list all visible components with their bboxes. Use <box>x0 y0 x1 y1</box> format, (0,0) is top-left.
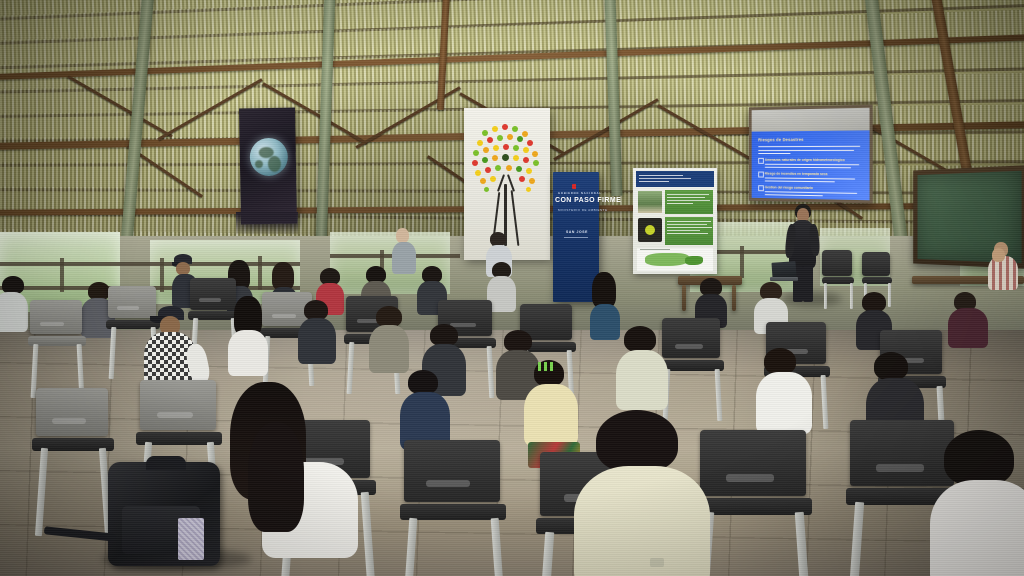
photograph-scene: Riesgos de Desastres Amenazas naturales … <box>0 0 1024 576</box>
presentation-slide: Riesgos de Desastres Amenazas naturales … <box>752 130 870 200</box>
earth-globe-flag <box>239 108 297 225</box>
national-emblem-icon <box>572 184 580 189</box>
globe-motif <box>250 138 289 177</box>
banner-sub-text: MINISTERIO DE AMBIENTE <box>558 208 608 212</box>
railing-post <box>258 256 262 290</box>
screen-blank-band <box>752 108 870 132</box>
poster-photo <box>638 191 662 213</box>
projection-screen: Riesgos de Desastres Amenazas naturales … <box>749 105 873 204</box>
slide-bullet-1: Amenazas naturales de origen hidrometeor… <box>765 157 845 161</box>
banner-footer-text: SAN JOSE <box>566 230 588 234</box>
slide-bullet-2: Riesgo de incendios en temporada seca <box>765 171 828 176</box>
slide-bullet-3: Gestion del riesgo comunitario <box>765 185 813 190</box>
slide-bullet-marker <box>758 172 764 178</box>
backpack-pattern-patch <box>178 518 204 560</box>
pavilion-railing <box>0 262 300 266</box>
railing-post <box>740 246 744 278</box>
slide-bullet-marker <box>758 158 764 164</box>
slide-bullet-marker <box>758 185 764 191</box>
painted-tree-banner <box>464 108 550 260</box>
flag-lower-fringe <box>236 212 298 234</box>
banner-eyebrow-text: GOBIERNO NACIONAL <box>558 192 602 195</box>
railing-post <box>160 258 164 292</box>
hair-clip <box>538 362 556 371</box>
banner-main-text: CON PASO FIRME <box>555 197 621 204</box>
black-backpack <box>108 462 220 566</box>
information-poster-board <box>633 168 717 274</box>
slide-title: Riesgos de Desastres <box>758 137 803 142</box>
poster-map <box>645 253 689 266</box>
railing-post <box>60 258 64 292</box>
